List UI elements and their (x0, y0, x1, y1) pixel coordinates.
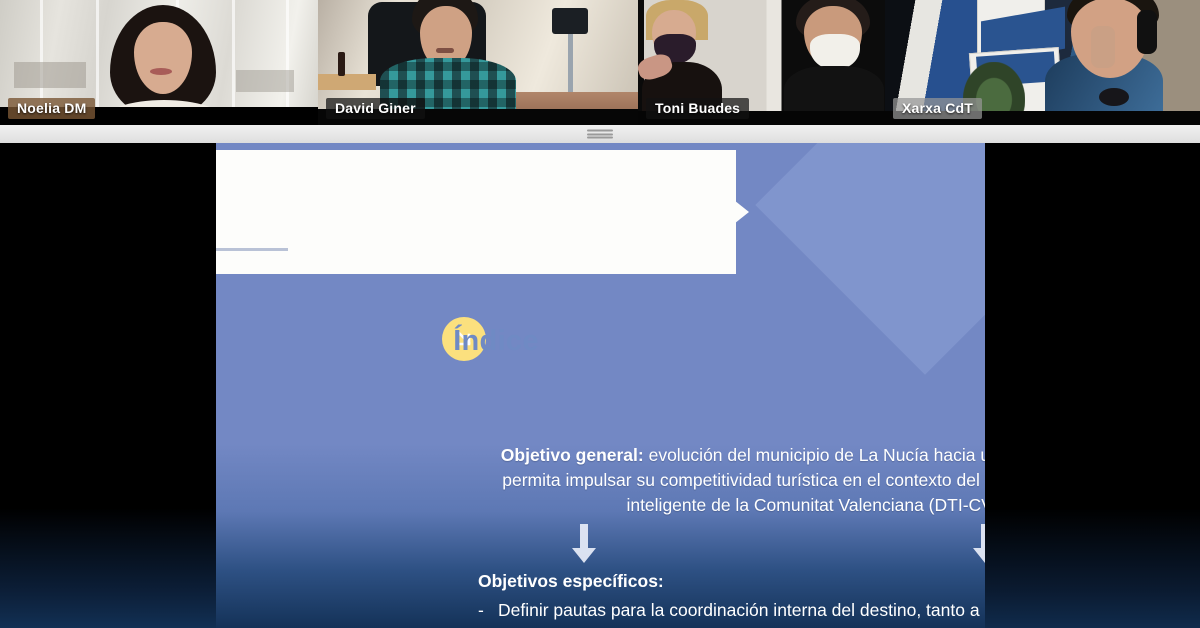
list-item: - Definir pautas para la coordinación in… (478, 598, 985, 628)
participant-name-label: Noelia DM (8, 98, 95, 119)
video-tile-david-giner[interactable]: David Giner (318, 0, 638, 125)
arrow-down-icon (972, 524, 985, 564)
participant-name-label: Xarxa CdT (893, 98, 982, 119)
participant-name-label: Toni Buades (646, 98, 749, 119)
video-tile-toni-buades[interactable]: Toni Buades (638, 0, 885, 125)
slide-title: Índice (216, 325, 776, 358)
panel-splitter[interactable] (0, 125, 1200, 144)
stage-glow-left (0, 508, 216, 628)
drag-handle-icon[interactable] (587, 130, 613, 139)
participant-name-label: David Giner (326, 98, 425, 119)
bullet-marker: - (478, 598, 488, 628)
video-tile-xarxa-cdt[interactable]: Xarxa CdT (885, 0, 1200, 125)
presentation-stage: Índice Objetivo general: evolución del m… (0, 143, 1200, 628)
objective-general-paragraph: Objetivo general: evolución del municipi… (474, 443, 985, 518)
participant-video-strip: Noelia DM David Giner (0, 0, 1200, 125)
arrow-down-icon (571, 524, 597, 564)
slide-header-band (216, 143, 985, 274)
stage-glow-right (985, 508, 1200, 628)
video-tile-noelia-dm[interactable]: Noelia DM (0, 0, 318, 125)
bullet-text: Definir pautas para la coordinación inte… (498, 598, 985, 628)
objectives-specific-heading: Objetivos específicos: (478, 571, 664, 592)
objective-general-label: Objetivo general: (501, 445, 644, 465)
objectives-specific-list: - Definir pautas para la coordinación in… (478, 598, 985, 628)
video-conference-screen: Noelia DM David Giner (0, 0, 1200, 628)
shared-slide: Índice Objetivo general: evolución del m… (216, 143, 985, 628)
